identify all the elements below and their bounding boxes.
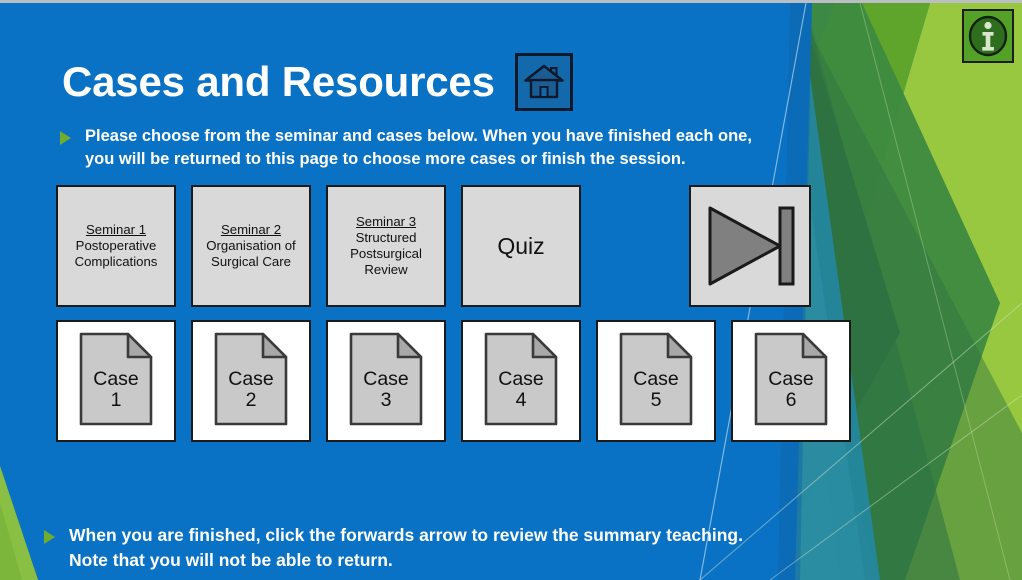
seminar-2-line2: Surgical Care [211, 254, 291, 269]
seminar-2-head: Seminar 2 [206, 222, 295, 238]
tile-quiz[interactable]: Quiz [461, 185, 581, 307]
info-icon [967, 14, 1009, 58]
document-icon-2: Case 2 [213, 331, 289, 432]
seminar-1-line2: Complications [75, 254, 158, 269]
seminar-3-line2: Postsurgical [350, 246, 422, 261]
seminar-1-line1: Postoperative [76, 238, 157, 253]
intro-text: Please choose from the seminar and cases… [85, 125, 760, 172]
row-spacer [596, 185, 674, 307]
tile-seminar-1[interactable]: Seminar 1 Postoperative Complications [56, 185, 176, 307]
outro-bullet: When you are finished, click the forward… [44, 523, 764, 573]
triangle-bullet-icon [44, 530, 55, 544]
document-icon-6: Case 6 [753, 331, 829, 432]
tile-seminar-3-label: Seminar 3 Structured Postsurgical Review [345, 214, 427, 278]
page-title: Cases and Resources [62, 60, 495, 104]
slide-canvas: Cases and Resources Please choose from t… [0, 0, 1022, 580]
page-icon [78, 331, 154, 427]
tile-case-1[interactable]: Case 1 [56, 320, 176, 442]
tile-case-5[interactable]: Case 5 [596, 320, 716, 442]
document-icon-4: Case 4 [483, 331, 559, 432]
tile-case-4[interactable]: Case 4 [461, 320, 581, 442]
tile-case-3[interactable]: Case 3 [326, 320, 446, 442]
skip-forward-icon [702, 200, 798, 292]
home-icon [524, 63, 564, 101]
seminar-3-line3: Review [364, 262, 407, 277]
home-button[interactable] [515, 53, 573, 111]
document-icon-1: Case 1 [78, 331, 154, 432]
seminar-2-line1: Organisation of [206, 238, 295, 253]
seminar-3-head: Seminar 3 [350, 214, 422, 230]
forward-button[interactable] [689, 185, 811, 307]
case-row: Case 1 Case 2 [56, 320, 866, 442]
title-row: Cases and Resources [62, 53, 573, 111]
page-icon [483, 331, 559, 427]
triangle-bullet-icon [60, 131, 71, 145]
seminar-3-line1: Structured [356, 230, 417, 245]
tile-case-2[interactable]: Case 2 [191, 320, 311, 442]
page-icon [348, 331, 424, 427]
tile-quiz-label: Quiz [492, 232, 549, 260]
page-icon [618, 331, 694, 427]
page-icon [213, 331, 289, 427]
tile-seminar-1-label: Seminar 1 Postoperative Complications [70, 222, 163, 270]
tile-seminar-2[interactable]: Seminar 2 Organisation of Surgical Care [191, 185, 311, 307]
seminar-1-head: Seminar 1 [75, 222, 158, 238]
tile-seminar-2-label: Seminar 2 Organisation of Surgical Care [201, 222, 300, 270]
intro-bullet: Please choose from the seminar and cases… [60, 125, 760, 172]
outro-text: When you are finished, click the forward… [69, 523, 764, 573]
tile-case-6[interactable]: Case 6 [731, 320, 851, 442]
document-icon-5: Case 5 [618, 331, 694, 432]
seminar-row: Seminar 1 Postoperative Complications Se… [56, 185, 826, 307]
tile-seminar-3[interactable]: Seminar 3 Structured Postsurgical Review [326, 185, 446, 307]
page-icon [753, 331, 829, 427]
document-icon-3: Case 3 [348, 331, 424, 432]
info-button[interactable] [962, 9, 1014, 63]
